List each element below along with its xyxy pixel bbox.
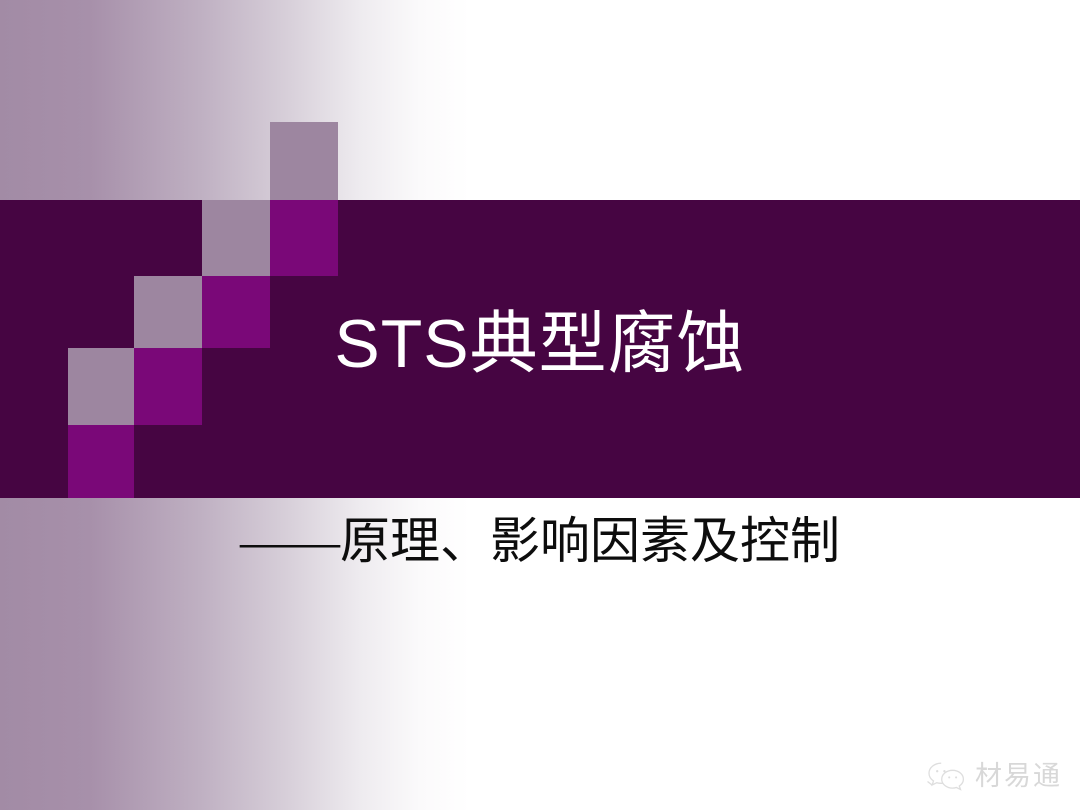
square-mauve-top: [270, 122, 338, 200]
page-subtitle: ——原理、影响因素及控制: [0, 508, 1080, 574]
square-magenta-r5c2: [68, 425, 134, 498]
presentation-slide: STS典型腐蚀 ——原理、影响因素及控制 材易通: [0, 0, 1080, 810]
square-magenta-r2c4: [270, 200, 338, 276]
wechat-icon: [926, 760, 966, 792]
watermark-label: 材易通: [975, 761, 1062, 791]
square-mauve-r2c3: [202, 200, 270, 276]
watermark: 材易通: [926, 760, 1062, 792]
page-title: STS典型腐蚀: [0, 296, 1080, 392]
